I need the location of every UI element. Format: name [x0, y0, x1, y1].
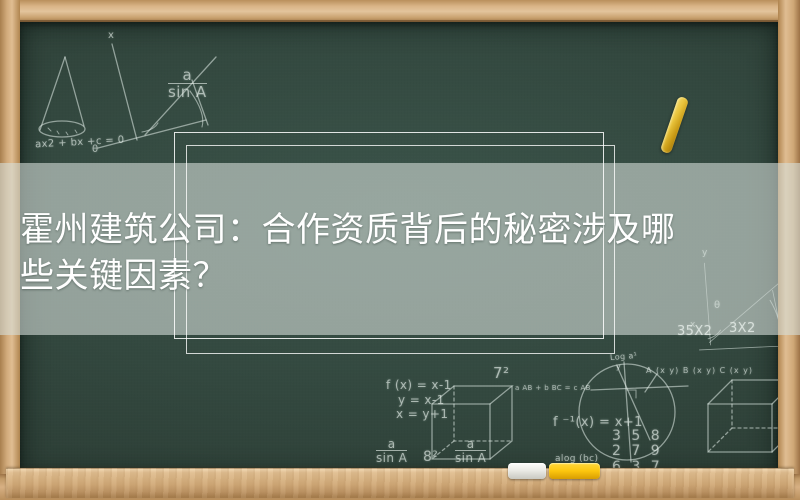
- frame-top-rail: [0, 0, 800, 22]
- chalk-sum-row-2: 2 7 9: [612, 443, 663, 459]
- chalk-axis-label-y-3: y: [616, 362, 621, 371]
- chalk-fx-line1: f (x) = x-1: [386, 378, 452, 392]
- chalk-ledge-yellow: [549, 463, 600, 479]
- chalk-vector-note: a AB + b BC = c AB: [515, 384, 591, 392]
- chalk-law-of-sines-3: a sin A: [455, 438, 486, 464]
- chalk-law-of-sines-1: a sin A: [168, 68, 207, 101]
- ledge-wood-grain: [6, 468, 794, 498]
- page-title: 霍州建筑公司：合作资质背后的秘密涉及哪 些关键因素？: [20, 207, 782, 299]
- chalk-ledge-white: [508, 463, 546, 479]
- chalk-sum-row-1: 3 5 8: [612, 428, 663, 444]
- chalk-axis-label-x-1: θ: [92, 144, 99, 155]
- chalk-fx-line3: x = y+1: [396, 407, 448, 421]
- page-title-line-1: 霍州建筑公司：合作资质背后的秘密涉及哪: [20, 207, 782, 253]
- chalk-exponent-8-squared: 8²: [423, 449, 438, 465]
- chalk-vector-brackets: A (x y) B (x y) C (x y): [646, 366, 753, 375]
- chalk-axis-label-y-1: x: [108, 30, 114, 41]
- page-title-line-2: 些关键因素？: [20, 253, 782, 299]
- chalkboard-poster: a sin A ax2 + bx +c = 0 x θ f (x) = x-1 …: [0, 0, 800, 500]
- chalk-fx-line2: y = x-1: [398, 393, 445, 407]
- chalk-law-of-sines-2: a sin A: [376, 438, 407, 464]
- chalk-ledge: [6, 468, 794, 498]
- chalk-exponent-7-squared: 7²: [493, 364, 509, 382]
